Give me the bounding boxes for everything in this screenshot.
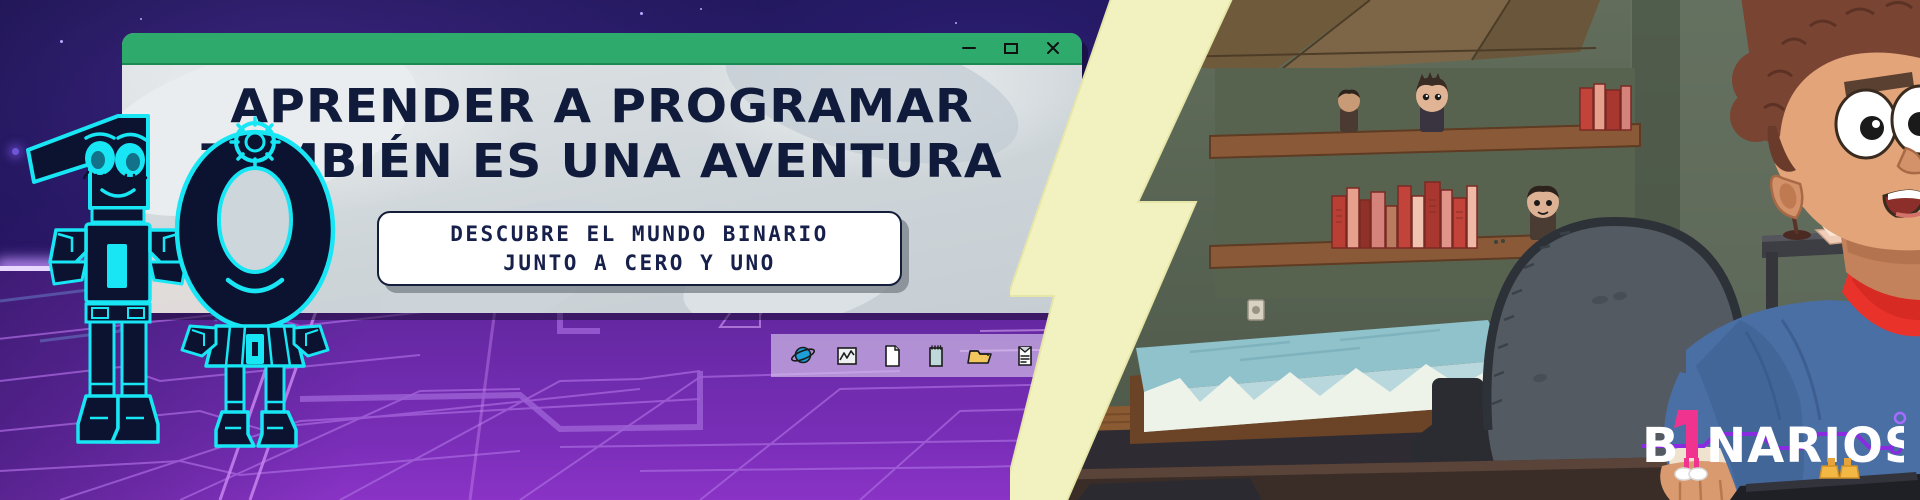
robot-characters [20, 112, 350, 497]
figurine-top-left [1338, 90, 1360, 132]
subtitle-box: DESCUBRE EL MUNDO BINARIO JUNTO A CERO Y… [377, 211, 902, 286]
lightning-bolt-divider [1010, 0, 1270, 500]
window-titlebar[interactable] [122, 33, 1082, 65]
planet-icon[interactable] [789, 341, 817, 371]
logo-letter-b: B [1642, 418, 1680, 474]
notepad-icon[interactable] [922, 341, 950, 371]
minimize-icon[interactable] [958, 37, 980, 59]
document-icon[interactable] [878, 341, 906, 371]
subtitle-line-1: DESCUBRE EL MUNDO BINARIO [450, 220, 829, 248]
logo-letters-narios: NARIOS [1706, 418, 1904, 474]
figurine-top [1416, 72, 1448, 132]
character-uno [28, 116, 186, 442]
character-cero [177, 118, 333, 446]
brand-logo: B NARIOS [1642, 404, 1904, 482]
chart-icon[interactable] [833, 341, 861, 371]
promo-banner: APRENDER A PROGRAMAR TAMBIÉN ES UNA AVEN… [0, 0, 1920, 500]
subtitle-line-2: JUNTO A CERO Y UNO [503, 249, 776, 277]
folder-icon[interactable] [966, 341, 994, 371]
